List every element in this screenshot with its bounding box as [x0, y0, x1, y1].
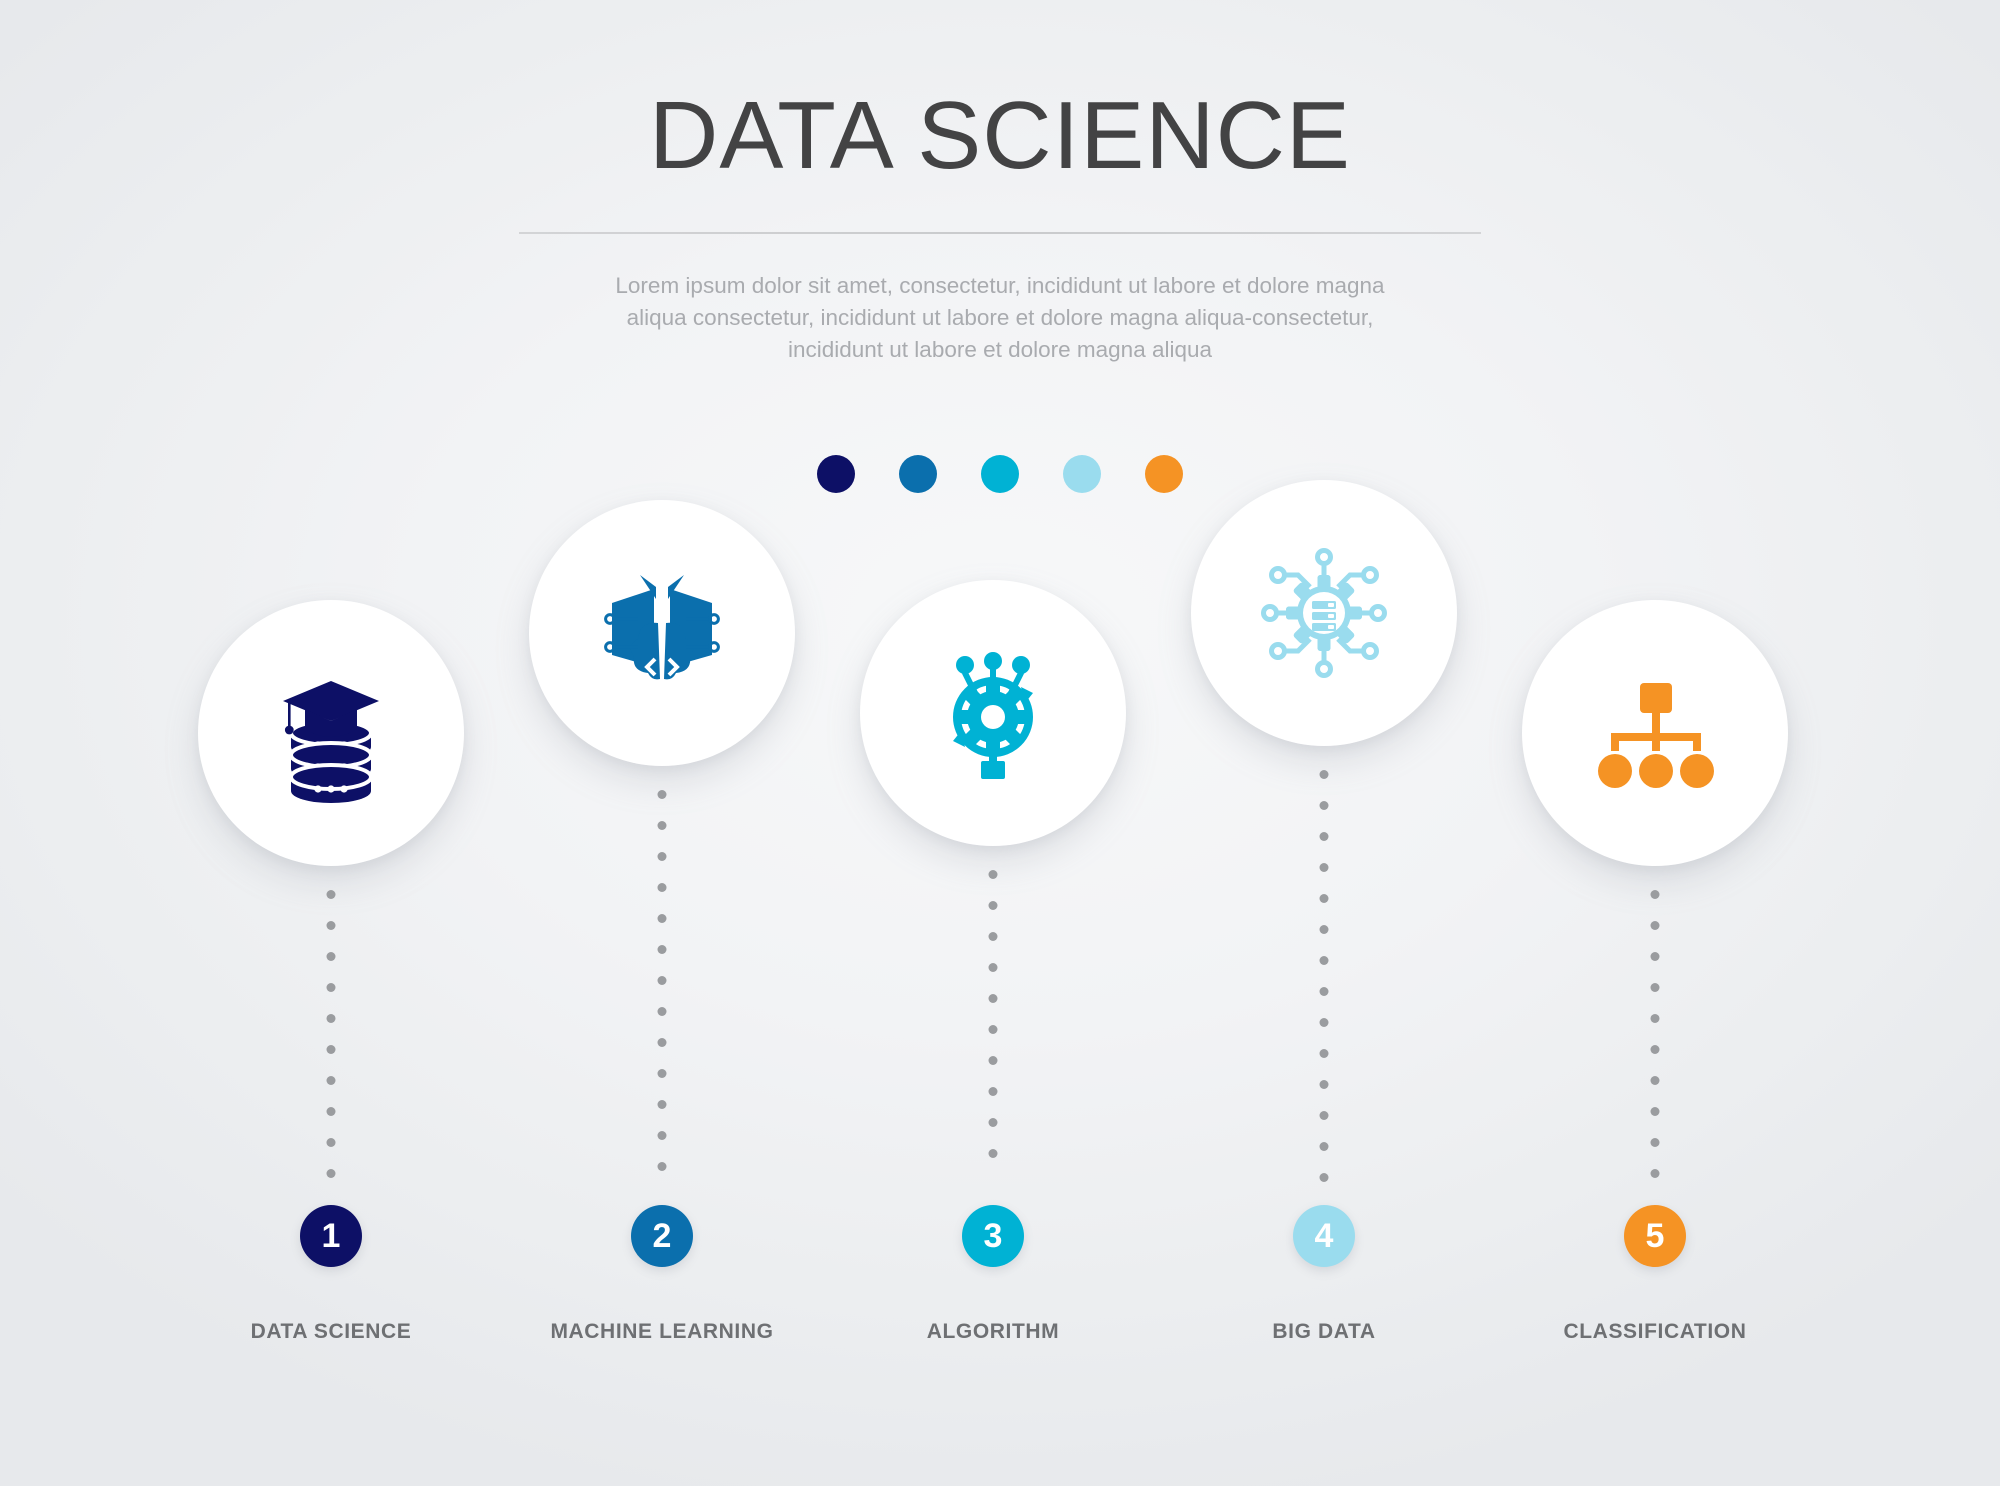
book-brain-circuit-icon: [592, 563, 732, 703]
connector-dot: [1651, 1076, 1660, 1085]
connector-dot: [1320, 956, 1329, 965]
connector-dot: [989, 994, 998, 1003]
connector-dot: [989, 1087, 998, 1096]
connector-dot: [1651, 952, 1660, 961]
connector-dot: [1320, 925, 1329, 934]
connector-dot: [1651, 1138, 1660, 1147]
connector-dot: [327, 1107, 336, 1116]
step-icon-circle[interactable]: [1191, 480, 1457, 746]
connector-dot: [658, 945, 667, 954]
connector-dot: [327, 890, 336, 899]
connector-dot: [989, 1149, 998, 1158]
step-number-badge[interactable]: 5: [1624, 1205, 1686, 1267]
step-label: BIG DATA: [1159, 1320, 1489, 1344]
step-1[interactable]: 1DATA SCIENCE: [165, 600, 497, 1400]
step-number: 4: [1315, 1217, 1334, 1256]
connector-dot: [327, 1138, 336, 1147]
graduation-cap-database-icon: [261, 663, 401, 803]
step-number-badge[interactable]: 1: [300, 1205, 362, 1267]
step-label: CLASSIFICATION: [1490, 1320, 1820, 1344]
page-title: DATA SCIENCE: [0, 0, 2000, 184]
step-number: 3: [984, 1217, 1003, 1256]
palette-dot-navy: [817, 455, 855, 493]
step-number: 1: [322, 1217, 341, 1256]
connector-dot: [658, 1162, 667, 1171]
connector-dot: [1651, 921, 1660, 930]
connector-dot: [989, 963, 998, 972]
step-number-badge[interactable]: 4: [1293, 1205, 1355, 1267]
connector-dot: [989, 1025, 998, 1034]
header-divider: [519, 232, 1481, 234]
hierarchy-tree-icon: [1585, 663, 1725, 803]
connector-dot: [1651, 1169, 1660, 1178]
palette-dot-cyan: [981, 455, 1019, 493]
step-icon-circle[interactable]: [1522, 600, 1788, 866]
connector-dot: [1320, 1173, 1329, 1182]
connector-dot: [1651, 1107, 1660, 1116]
dotted-connector: [1320, 770, 1329, 1204]
connector-dot: [1320, 1080, 1329, 1089]
dotted-connector: [327, 890, 336, 1200]
gear-server-network-icon: [1254, 543, 1394, 683]
connector-dot: [1651, 890, 1660, 899]
connector-dot: [1320, 832, 1329, 841]
step-number-badge[interactable]: 3: [962, 1205, 1024, 1267]
step-number: 5: [1646, 1217, 1665, 1256]
connector-dot: [327, 983, 336, 992]
connector-dot: [658, 1038, 667, 1047]
connector-dot: [327, 1045, 336, 1054]
icon-circle-background: [198, 600, 464, 866]
connector-dot: [327, 1014, 336, 1023]
palette-dots: [0, 455, 2000, 493]
step-icon-circle[interactable]: [198, 600, 464, 866]
step-5[interactable]: 5CLASSIFICATION: [1489, 600, 1821, 1400]
step-label: MACHINE LEARNING: [497, 1320, 827, 1344]
connector-dot: [658, 790, 667, 799]
connector-dot: [1320, 894, 1329, 903]
connector-dot: [327, 921, 336, 930]
steps-container: 1DATA SCIENCE2MACHINE LEARNING3ALGORITHM…: [0, 600, 2000, 1400]
connector-dot: [658, 1100, 667, 1109]
step-3[interactable]: 3ALGORITHM: [827, 600, 1159, 1400]
connector-dot: [658, 1069, 667, 1078]
palette-dot-orange: [1145, 455, 1183, 493]
connector-dot: [327, 1169, 336, 1178]
icon-circle-background: [1522, 600, 1788, 866]
connector-dot: [1320, 1142, 1329, 1151]
connector-dot: [658, 883, 667, 892]
connector-dot: [1320, 1049, 1329, 1058]
connector-dot: [327, 952, 336, 961]
connector-dot: [1320, 801, 1329, 810]
gear-nodes-algorithm-icon: [923, 643, 1063, 783]
connector-dot: [1320, 770, 1329, 779]
connector-dot: [1651, 983, 1660, 992]
connector-dot: [1651, 1014, 1660, 1023]
connector-dot: [989, 932, 998, 941]
step-number: 2: [653, 1217, 672, 1256]
dotted-connector: [658, 790, 667, 1193]
connector-dot: [989, 901, 998, 910]
connector-dot: [1320, 1111, 1329, 1120]
step-4[interactable]: 4BIG DATA: [1158, 600, 1490, 1400]
connector-dot: [658, 821, 667, 830]
icon-circle-background: [1191, 480, 1457, 746]
header: DATA SCIENCE Lorem ipsum dolor sit amet,…: [0, 0, 2000, 366]
connector-dot: [989, 1056, 998, 1065]
connector-dot: [989, 870, 998, 879]
connector-dot: [989, 1118, 998, 1127]
connector-dot: [1320, 1018, 1329, 1027]
connector-dot: [1651, 1045, 1660, 1054]
dotted-connector: [1651, 890, 1660, 1200]
connector-dot: [658, 852, 667, 861]
connector-dot: [1320, 987, 1329, 996]
connector-dot: [658, 1007, 667, 1016]
step-icon-circle[interactable]: [860, 580, 1126, 846]
header-subtitle: Lorem ipsum dolor sit amet, consectetur,…: [605, 270, 1395, 366]
dotted-connector: [989, 870, 998, 1180]
connector-dot: [658, 976, 667, 985]
palette-dot-blue: [899, 455, 937, 493]
icon-circle-background: [529, 500, 795, 766]
step-number-badge[interactable]: 2: [631, 1205, 693, 1267]
palette-dot-light-blue: [1063, 455, 1101, 493]
connector-dot: [1320, 863, 1329, 872]
step-label: DATA SCIENCE: [166, 1320, 496, 1344]
step-icon-circle[interactable]: [529, 500, 795, 766]
icon-circle-background: [860, 580, 1126, 846]
step-label: ALGORITHM: [828, 1320, 1158, 1344]
connector-dot: [658, 914, 667, 923]
connector-dot: [327, 1076, 336, 1085]
connector-dot: [658, 1131, 667, 1140]
step-2[interactable]: 2MACHINE LEARNING: [496, 600, 828, 1400]
